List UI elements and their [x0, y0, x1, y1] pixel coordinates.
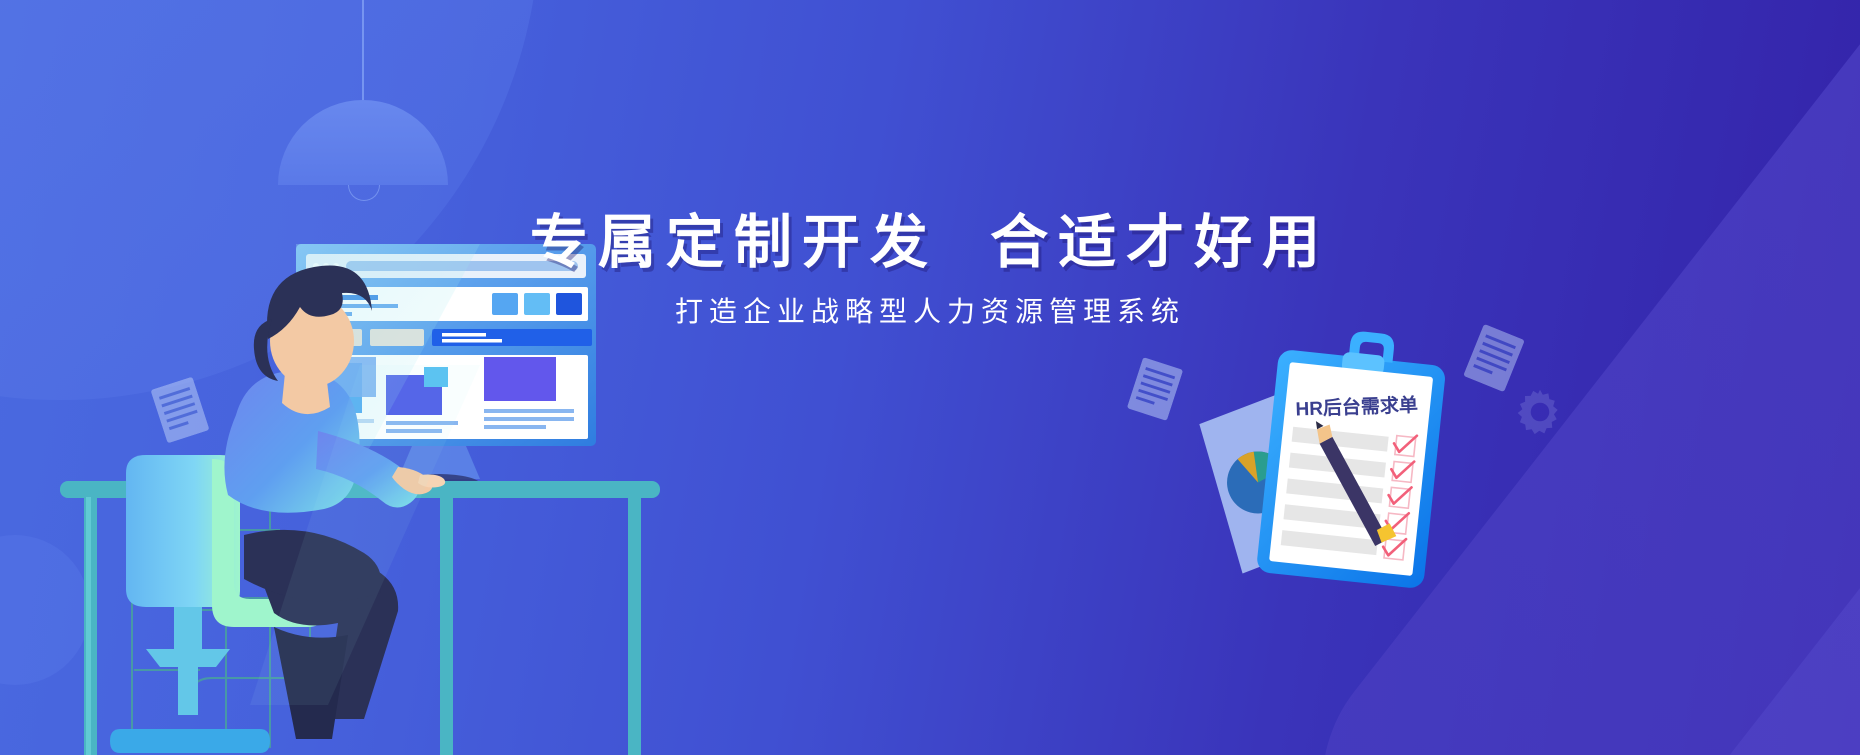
gear-icon: [1514, 386, 1566, 438]
page-subtitle: 打造企业战略型人力资源管理系统: [0, 295, 1860, 329]
hanging-lamp-icon: [278, 0, 448, 200]
lamp-cord: [362, 0, 364, 104]
clipboard: HR后台需求单: [1256, 330, 1449, 589]
document-icon: [1127, 357, 1184, 421]
lamp-dome: [278, 100, 448, 185]
headline-block: 专属定制开发 合适才好用 打造企业战略型人力资源管理系统: [0, 212, 1860, 329]
hero-banner: 专属定制开发 合适才好用 打造企业战略型人力资源管理系统: [0, 0, 1860, 755]
page-title: 专属定制开发 合适才好用: [0, 212, 1860, 273]
lamp-bulb: [348, 185, 380, 201]
illustration-hr-clipboard: HR后台需求单: [1190, 330, 1520, 630]
